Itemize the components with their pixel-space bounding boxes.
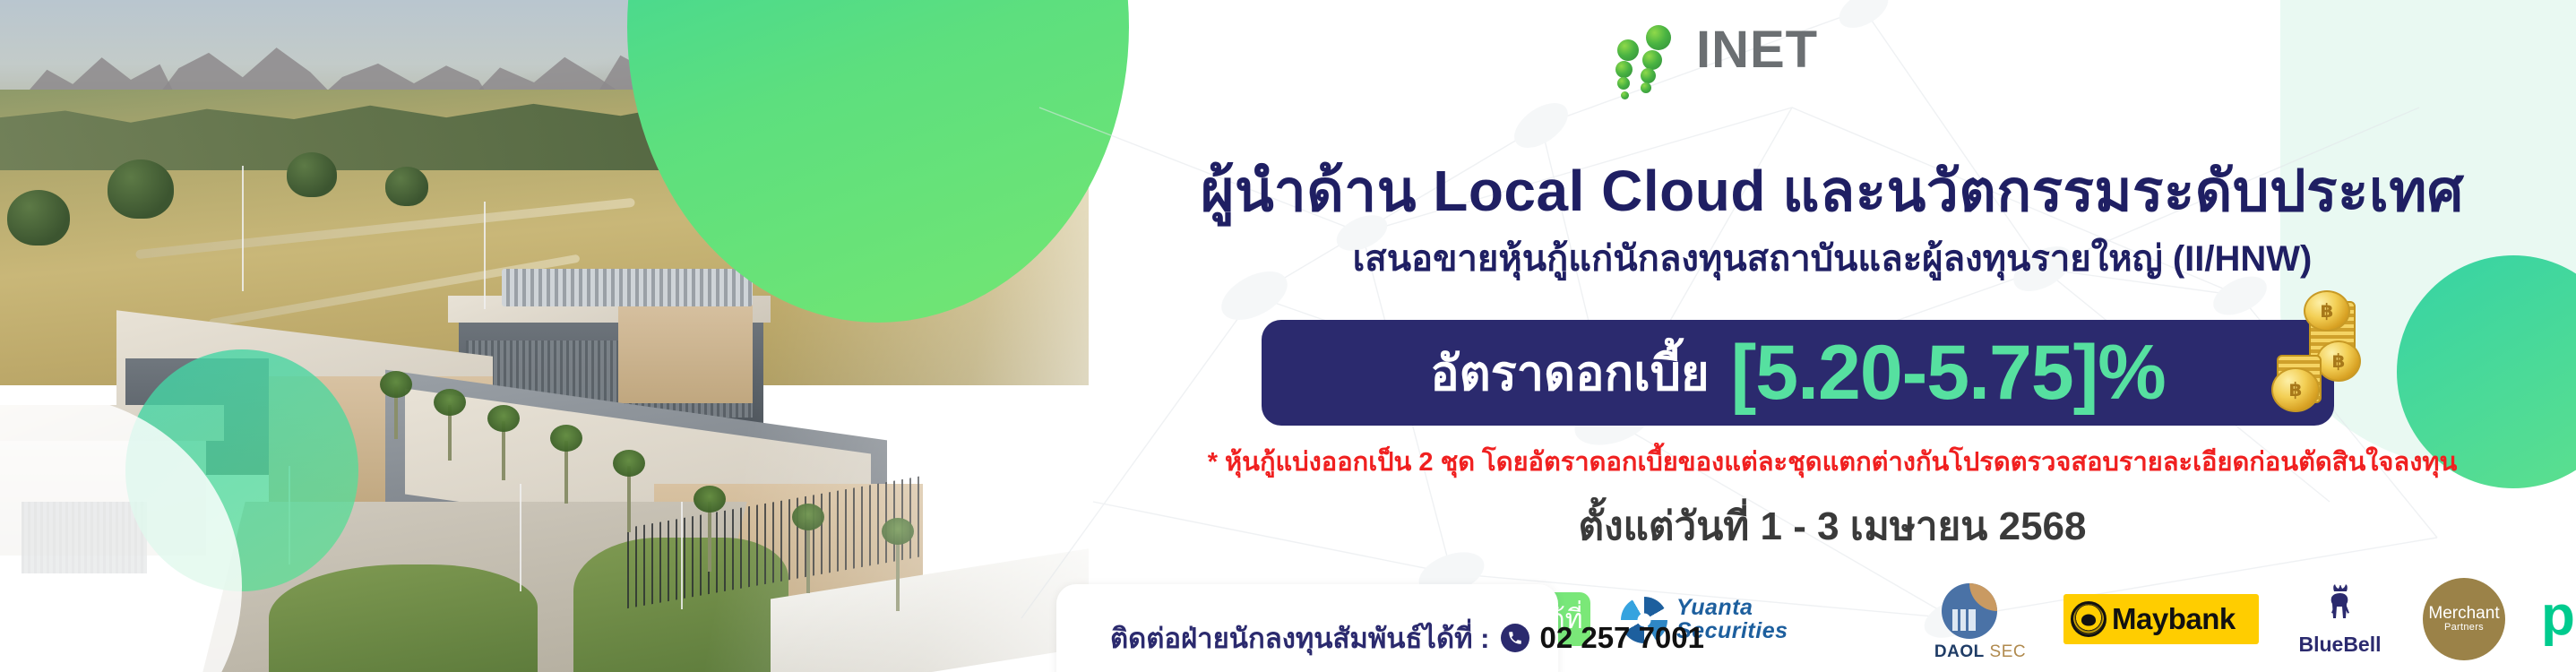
logo-dot: [1621, 91, 1629, 99]
content-column: INET ผู้นำด้าน Local Cloud และนวัตกรรมระ…: [1089, 0, 2576, 672]
logo-dot: [1617, 39, 1639, 61]
phone-icon: [1501, 624, 1529, 652]
deer-icon: [2317, 582, 2364, 629]
page-title: ผู้นำด้าน Local Cloud และนวัตกรรมระดับปร…: [1089, 145, 2576, 237]
pi-wordmark: pi: [2541, 584, 2576, 648]
maybank-tiger-icon: [2071, 601, 2106, 637]
merchant-line2: Partners: [2444, 622, 2484, 633]
logo-dot: [1641, 82, 1651, 93]
merchant-line1: Merchant: [2428, 605, 2499, 622]
contact-label: ติดต่อฝ่ายนักลงทุนสัมพันธ์ได้ที่ :: [1110, 616, 1489, 660]
partner-logo-merchant-partners[interactable]: Merchant Partners: [2423, 578, 2505, 660]
daol-wordmark: DAOL SEC: [1913, 642, 2047, 662]
maybank-wordmark: Maybank: [2112, 602, 2236, 636]
bluebell-wordmark: BlueBell: [2284, 633, 2396, 657]
logo-dot: [1641, 68, 1656, 83]
partner-logo-maybank[interactable]: Maybank: [2063, 594, 2259, 644]
logo-dot: [1615, 61, 1633, 78]
daol-mark-icon: [1942, 583, 1997, 639]
logo-dot: [1646, 25, 1671, 50]
daol-main: DAOL: [1934, 642, 1985, 661]
logo-dot: [1617, 77, 1630, 90]
interest-rate-box: อัตราดอกเบี้ย [5.20-5.75]%: [1262, 320, 2334, 426]
interest-rate-value: [5.20-5.75]%: [1731, 329, 2166, 418]
inet-logo: INET: [1590, 16, 1886, 79]
logo-wordmark: INET: [1696, 20, 1818, 80]
logo-dot: [1642, 50, 1662, 70]
daol-sub: SEC: [1990, 642, 2027, 661]
partner-logo-bluebell[interactable]: BlueBell: [2284, 582, 2396, 656]
partner-logo-daol-sec[interactable]: DAOL SEC: [1913, 583, 2047, 655]
partner-logo-pi[interactable]: pi: [2536, 588, 2576, 650]
gold-coins-icon: [2259, 289, 2375, 436]
investor-relations-contact-card: ติดต่อฝ่ายนักลงทุนสัมพันธ์ได้ที่ : 02 25…: [1056, 584, 1558, 672]
yuanta-line1: Yuanta: [1676, 595, 1753, 620]
contact-phone-number[interactable]: 02 257 7001: [1539, 621, 1704, 655]
disclaimer-text: * หุ้นกู้แบ่งออกเป็น 2 ชุด โดยอัตราดอกเบ…: [1089, 441, 2576, 482]
merchant-circle: Merchant Partners: [2423, 578, 2505, 660]
interest-rate-label: อัตราดอกเบี้ย: [1430, 334, 1709, 411]
inet-bond-offering-banner: INET ผู้นำด้าน Local Cloud และนวัตกรรมระ…: [0, 0, 2576, 672]
offering-dates: ตั้งแต่วันที่ 1 - 3 เมษายน 2568: [1089, 495, 2576, 557]
page-subtitle: เสนอขายหุ้นกู้แก่นักลงทุนสถาบันและผู้ลงท…: [1089, 229, 2576, 287]
